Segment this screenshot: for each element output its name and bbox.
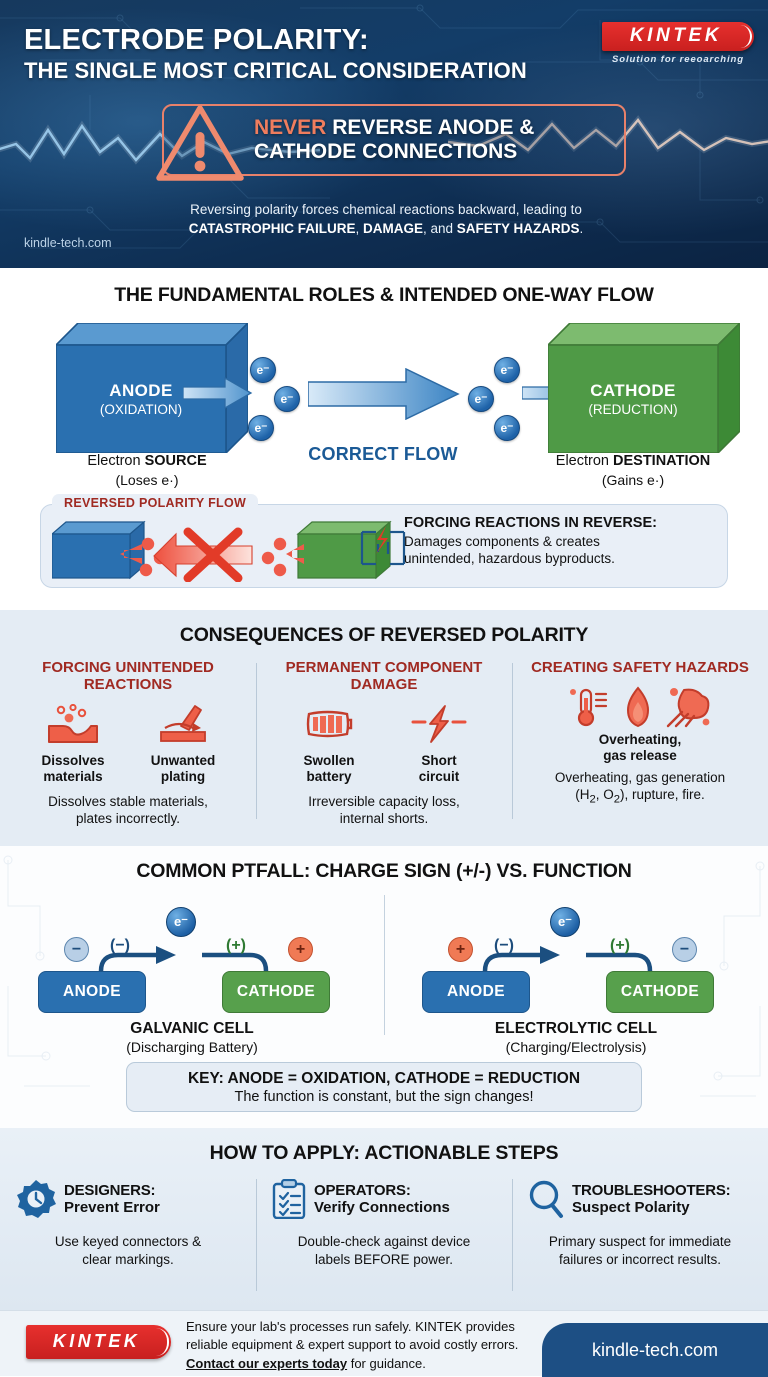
electron-ball: e⁻ [494, 357, 520, 383]
section-fundamental-roles: THE FUNDAMENTAL ROLES & INTENDED ONE-WAY… [0, 268, 768, 610]
hazard-formula-pre: (H [575, 787, 589, 802]
apply-action: Verify Connections [314, 1199, 450, 1216]
apply-role: DESIGNERS: [64, 1182, 160, 1199]
hazard-formula-post: ), rupture, fire. [620, 787, 705, 802]
electrolytic-cathode-paren: (+) [610, 937, 630, 955]
section-how-to-apply: HOW TO APPLY: ACTIONABLE STEPS DESIGNERS… [0, 1128, 768, 1310]
flow-section-title: THE FUNDAMENTAL ROLES & INTENDED ONE-WAY… [0, 284, 768, 307]
subtext-bold-1: CATASTROPHIC FAILURE [189, 221, 356, 236]
consequence-desc-2: plates incorrectly. [76, 811, 180, 826]
alert-line1-rest: REVERSE ANODE & [326, 116, 534, 139]
cathode-sub: (REDUCTION) [588, 402, 677, 417]
gas-cloud-icon [664, 686, 712, 728]
apply-desc-1: Use keyed connectors & [55, 1234, 201, 1249]
consequences-title: CONSEQUENCES OF REVERSED POLARITY [0, 624, 768, 647]
electron-ball: e⁻ [250, 357, 276, 383]
header-banner: ELECTRODE POLARITY: THE SINGLE MOST CRIT… [0, 0, 768, 268]
correct-flow-arrow-icon [308, 368, 460, 420]
galvanic-caption: GALVANIC CELL (Discharging Battery) [0, 1019, 384, 1056]
apply-desc-1: Primary suspect for immediate [549, 1234, 731, 1249]
apply-column-designers: DESIGNERS: Prevent Error Use keyed conne… [0, 1179, 256, 1301]
magnifier-icon [528, 1179, 564, 1219]
galvanic-anode-paren: (−) [110, 937, 130, 955]
electrolytic-anode-sign: + [448, 937, 473, 962]
section-charge-sign: COMMON PTFALL: CHARGE SIGN (+/-) VS. FUN… [0, 846, 768, 1128]
unwanted-plating-icon [155, 704, 211, 744]
alert-line-2: CATHODE CONNECTIONS [254, 140, 534, 164]
key-line-1: KEY: ANODE = OXIDATION, CATHODE = REDUCT… [188, 1070, 580, 1088]
subtext-mid-2: , and [423, 221, 457, 236]
subtext-lead: Reversing polarity forces chemical react… [190, 202, 582, 217]
short-circuit-icon [411, 704, 467, 744]
cathode-cap-bold: DESTINATION [613, 453, 710, 469]
kintek-logo-plate: KINTEK [602, 22, 754, 51]
reversed-body-2: unintended, hazardous byproducts. [404, 550, 720, 567]
kintek-logo-text: KINTEK [612, 26, 740, 46]
apply-role: OPERATORS: [314, 1182, 450, 1199]
section-consequences: CONSEQUENCES OF REVERSED POLARITY FORCIN… [0, 610, 768, 846]
header-title-line1: ELECTRODE POLARITY: [24, 24, 527, 56]
consequence-heading: FORCING UNINTENDED REACTIONS [8, 659, 248, 694]
clipboard-check-icon [272, 1179, 306, 1219]
electrolytic-cathode-sign: − [672, 937, 697, 962]
electrolytic-anode-box: ANODE [422, 971, 530, 1013]
consequence-column-reactions: FORCING UNINTENDED REACTIONS Dissolvesma… [0, 659, 256, 835]
reversed-polarity-text: FORCING REACTIONS IN REVERSE: Damages co… [404, 514, 720, 567]
header-title-line2: THE SINGLE MOST CRITICAL CONSIDERATION [24, 58, 527, 84]
kintek-logo-header[interactable]: KINTEK Solution for reeoarching [602, 22, 754, 65]
alert-never-word: NEVER [254, 116, 326, 139]
icon-label-1: Dissolves [41, 753, 104, 768]
subtext-end: . [580, 221, 584, 236]
icon-label-2: plating [161, 769, 205, 784]
icon-label-1: Short [421, 753, 456, 768]
electron-ball: e⁻ [248, 415, 274, 441]
kintek-logo-tagline: Solution for reeoarching [602, 54, 754, 65]
flame-icon [620, 686, 656, 728]
electron-ball: e⁻ [494, 415, 520, 441]
reversed-flow-graphic [52, 520, 392, 582]
apply-column-troubleshooters: TROUBLESHOOTERS: Suspect Polarity Primar… [512, 1179, 768, 1301]
footer-copy-line-3-rest: for guidance. [347, 1356, 426, 1371]
dissolving-material-icon [45, 704, 101, 744]
swollen-battery-icon [301, 704, 357, 744]
footer-copy-line-1: Ensure your lab's processes run safely. … [186, 1319, 515, 1334]
footer-site-url[interactable]: kindle-tech.com [542, 1323, 768, 1377]
consequence-desc-1: Irreversible capacity loss, [308, 794, 460, 809]
apply-title: HOW TO APPLY: ACTIONABLE STEPS [0, 1142, 768, 1165]
anode-caption: Electron SOURCE (Loses e·) [42, 452, 252, 489]
reversed-head: FORCING REACTIONS IN REVERSE: [404, 514, 720, 533]
contact-experts-link[interactable]: Contact our experts today [186, 1356, 347, 1371]
electrolytic-cathode-box: CATHODE [606, 971, 714, 1013]
icon-label-2: battery [306, 769, 351, 784]
anode-cap-pre: Electron [87, 453, 144, 469]
warning-triangle-icon [155, 102, 245, 186]
apply-desc-2: labels BEFORE power. [315, 1252, 453, 1267]
anode-name: ANODE [109, 381, 172, 401]
electrolytic-caption: ELECTROLYTIC CELL (Charging/Electrolysis… [384, 1019, 768, 1056]
anode-out-arrow-icon [183, 377, 253, 409]
galvanic-anode-box: ANODE [38, 971, 146, 1013]
consequence-icon-item: Swollenbattery [286, 704, 372, 785]
consequence-heading: CREATING SAFETY HAZARDS [520, 659, 760, 676]
consequence-icon-item: Shortcircuit [396, 704, 482, 785]
header-title: ELECTRODE POLARITY: THE SINGLE MOST CRIT… [24, 24, 527, 85]
apply-desc-2: failures or incorrect results. [559, 1252, 721, 1267]
consequence-heading: PERMANENT COMPONENT DAMAGE [264, 659, 504, 694]
footer-bar: KINTEK Ensure your lab's processes run s… [0, 1310, 768, 1376]
galvanic-sub: (Discharging Battery) [0, 1039, 384, 1057]
reversed-body-1: Damages components & creates [404, 533, 720, 550]
galvanic-cathode-sign: + [288, 937, 313, 962]
anode-cap-sub: (Loses e·) [42, 471, 252, 489]
broken-circuit-icon [358, 524, 408, 578]
electron-ball: e⁻ [468, 386, 494, 412]
correct-flow-label: CORRECT FLOW [285, 444, 481, 465]
galvanic-cell-diagram: − (−) e⁻ (+) + ANODE CATHODE GALVANIC CE… [0, 893, 384, 1043]
reversed-polarity-tab: REVERSED POLARITY FLOW [52, 494, 258, 513]
footer-logo-text: KINTEK [36, 1331, 157, 1352]
galvanic-anode-sign: − [64, 937, 89, 962]
electrolytic-sub: (Charging/Electrolysis) [384, 1039, 768, 1057]
apply-role: TROUBLESHOOTERS: [572, 1182, 730, 1199]
electrolytic-name: ELECTROLYTIC CELL [384, 1019, 768, 1039]
electrolytic-electron: e⁻ [550, 907, 580, 937]
icon-label-2: materials [43, 769, 102, 784]
header-subtext: Reversing polarity forces chemical react… [96, 200, 676, 238]
icon-label-1: Swollen [303, 753, 354, 768]
subtext-bold-2: DAMAGE [363, 221, 423, 236]
infographic-page: ELECTRODE POLARITY: THE SINGLE MOST CRIT… [0, 0, 768, 1376]
gear-clock-icon [16, 1179, 56, 1219]
consequence-desc-1: Dissolves stable materials, [48, 794, 208, 809]
footer-copy-line-2: reliable equipment & expert support to a… [186, 1337, 518, 1352]
subtext-mid-1: , [355, 221, 363, 236]
hazard-icon-label-1: Overheating, [599, 732, 682, 747]
consequence-desc-2: internal shorts. [340, 811, 429, 826]
subtext-bold-3: SAFETY HAZARDS [457, 221, 580, 236]
galvanic-electron: e⁻ [166, 907, 196, 937]
header-site-url[interactable]: kindle-tech.com [24, 236, 112, 250]
icon-label-2: circuit [419, 769, 460, 784]
footer-logo-plate: KINTEK [26, 1325, 171, 1359]
galvanic-cathode-box: CATHODE [222, 971, 330, 1013]
hazard-formula-mid: , O [596, 787, 614, 802]
anode-sub: (OXIDATION) [100, 402, 182, 417]
cathode-cap-pre: Electron [556, 453, 613, 469]
consequence-column-damage: PERMANENT COMPONENT DAMAGE Swollenbatter… [256, 659, 512, 835]
apply-column-operators: OPERATORS: Verify Connections Double-che… [256, 1179, 512, 1301]
galvanic-cathode-paren: (+) [226, 937, 246, 955]
anode-cap-bold: SOURCE [145, 453, 207, 469]
key-callout-box: KEY: ANODE = OXIDATION, CATHODE = REDUCT… [126, 1062, 642, 1112]
apply-action: Prevent Error [64, 1199, 160, 1216]
galvanic-name: GALVANIC CELL [0, 1019, 384, 1039]
thermometer-icon [568, 686, 612, 728]
electron-ball: e⁻ [274, 386, 300, 412]
consequence-icon-item: Dissolvesmaterials [30, 704, 116, 785]
cathode-cap-sub: (Gains e·) [516, 471, 750, 489]
apply-action: Suspect Polarity [572, 1199, 730, 1216]
apply-desc-1: Double-check against device [298, 1234, 471, 1249]
consequence-icon-item: Unwantedplating [140, 704, 226, 785]
key-line-2: The function is constant, but the sign c… [234, 1089, 533, 1105]
icon-label-1: Unwanted [151, 753, 216, 768]
alert-line-1: NEVER REVERSE ANODE & [254, 116, 534, 140]
cathode-name: CATHODE [590, 381, 676, 401]
apply-desc-2: clear markings. [82, 1252, 174, 1267]
never-reverse-alert: NEVER REVERSE ANODE & CATHODE CONNECTION… [162, 104, 626, 176]
consequence-column-hazards: CREATING SAFETY HAZARDS [512, 659, 768, 835]
electrolytic-anode-paren: (−) [494, 937, 514, 955]
electrolytic-cell-diagram: + (−) e⁻ (+) − ANODE CATHODE ELECTROLYTI… [384, 893, 768, 1043]
kintek-logo-footer[interactable]: KINTEK [26, 1325, 171, 1359]
consequence-desc-1: Overheating, gas generation [555, 770, 725, 785]
cathode-caption: Electron DESTINATION (Gains e·) [516, 452, 750, 489]
hazard-icon-label-2: gas release [603, 748, 677, 763]
cathode-label-group: CATHODE (REDUCTION) [548, 345, 718, 453]
